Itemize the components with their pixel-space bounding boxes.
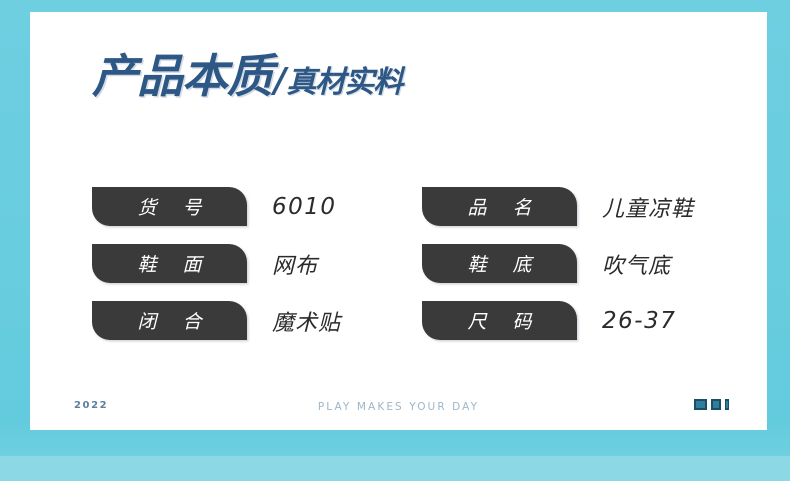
spec-value-item-number: 6010	[272, 194, 337, 220]
spec-label-item-number: 货 号	[127, 193, 211, 220]
spec-label-product-name: 品 名	[457, 193, 541, 220]
spec-label-product-name-pill: 品 名	[422, 187, 577, 226]
spec-label-upper-material: 鞋 面	[127, 250, 211, 277]
spec-label-size-range-pill: 尺 码	[422, 301, 577, 340]
spec-label-item-number-pill: 货 号	[92, 187, 247, 226]
decorative-mark-small	[725, 399, 729, 410]
footer-tagline: PLAY MAKES YOUR DAY	[30, 401, 767, 413]
footer-decorative-marks	[694, 399, 729, 410]
spec-label-closure-pill: 闭 合	[92, 301, 247, 340]
spec-row: 货 号6010	[92, 178, 422, 235]
decorative-mark-medium	[711, 399, 721, 410]
content-card: 产品本质 / 真材实料 货 号6010品 名儿童凉鞋鞋 面网布鞋 底吹气底闭 合…	[30, 12, 767, 430]
background-band-bottom	[0, 456, 790, 481]
spec-label-outsole: 鞋 底	[457, 250, 541, 277]
spec-value-upper-material: 网布	[272, 248, 318, 280]
spec-value-size-range: 26-37	[602, 308, 676, 334]
spec-row: 鞋 面网布	[92, 235, 422, 292]
spec-row: 尺 码26-37	[422, 292, 752, 349]
spec-row: 鞋 底吹气底	[422, 235, 752, 292]
spec-label-closure: 闭 合	[127, 307, 211, 334]
spec-label-upper-material-pill: 鞋 面	[92, 244, 247, 283]
page-title: 产品本质 / 真材实料	[92, 53, 402, 99]
spec-grid: 货 号6010品 名儿童凉鞋鞋 面网布鞋 底吹气底闭 合魔术贴尺 码26-37	[92, 178, 752, 349]
spec-value-product-name: 儿童凉鞋	[602, 191, 694, 223]
spec-row: 闭 合魔术贴	[92, 292, 422, 349]
spec-label-outsole-pill: 鞋 底	[422, 244, 577, 283]
spec-value-outsole: 吹气底	[602, 248, 671, 280]
page-title-sub: 真材实料	[286, 68, 402, 98]
page-title-separator: /	[274, 64, 285, 98]
slide-root: 产品本质 / 真材实料 货 号6010品 名儿童凉鞋鞋 面网布鞋 底吹气底闭 合…	[0, 0, 790, 481]
spec-value-closure: 魔术贴	[272, 305, 341, 337]
decorative-mark-large	[694, 399, 707, 410]
spec-label-size-range: 尺 码	[457, 307, 541, 334]
spec-row: 品 名儿童凉鞋	[422, 178, 752, 235]
page-title-main: 产品本质	[92, 53, 272, 99]
